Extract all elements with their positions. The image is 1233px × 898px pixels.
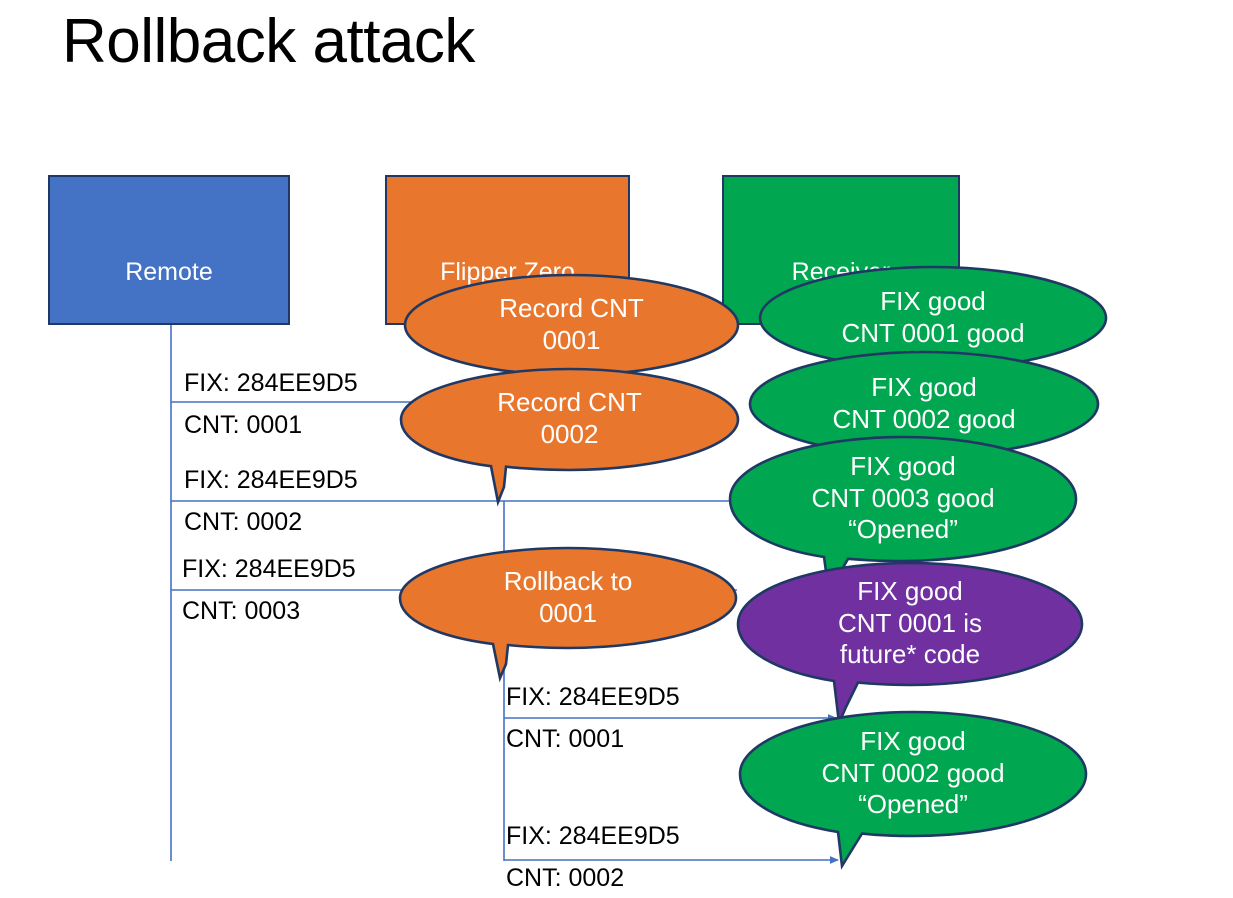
callout-flipper-rollback-0001[interactable]: Rollback to 0001 xyxy=(398,546,738,681)
callout-receiver-cnt0002-opened[interactable]: FIX good CNT 0002 good “Opened” xyxy=(738,710,1088,870)
message-1-cnt-label: CNT: 0001 xyxy=(184,413,302,438)
actor-box-remote[interactable]: Remote xyxy=(48,175,290,325)
callout-receiver-future-code[interactable]: FIX good CNT 0001 is future* code xyxy=(736,561,1084,726)
message-2-fix-label: FIX: 284EE9D5 xyxy=(184,468,358,493)
callout-shape xyxy=(738,710,1088,870)
message-1-fix-label: FIX: 284EE9D5 xyxy=(184,371,358,396)
callout-flipper-record-0001[interactable]: Record CNT 0001 xyxy=(403,273,740,377)
slide-canvas: Rollback attack Remote Flipper Zero Rece… xyxy=(0,0,1233,898)
message-3-cnt-label: CNT: 0003 xyxy=(182,599,300,624)
callout-shape xyxy=(403,273,740,377)
message-2-cnt-label: CNT: 0002 xyxy=(184,510,302,535)
message-4-cnt-label: CNT: 0001 xyxy=(506,727,624,752)
callout-shape xyxy=(736,561,1084,726)
message-3-fix-label: FIX: 284EE9D5 xyxy=(182,557,356,582)
callout-flipper-record-0002[interactable]: Record CNT 0002 xyxy=(399,367,740,507)
message-5-fix-label: FIX: 284EE9D5 xyxy=(506,824,680,849)
actor-label-remote: Remote xyxy=(125,258,213,287)
message-4-fix-label: FIX: 284EE9D5 xyxy=(506,685,680,710)
message-5-cnt-label: CNT: 0002 xyxy=(506,866,624,891)
callout-shape xyxy=(398,546,738,681)
callout-shape xyxy=(399,367,740,507)
